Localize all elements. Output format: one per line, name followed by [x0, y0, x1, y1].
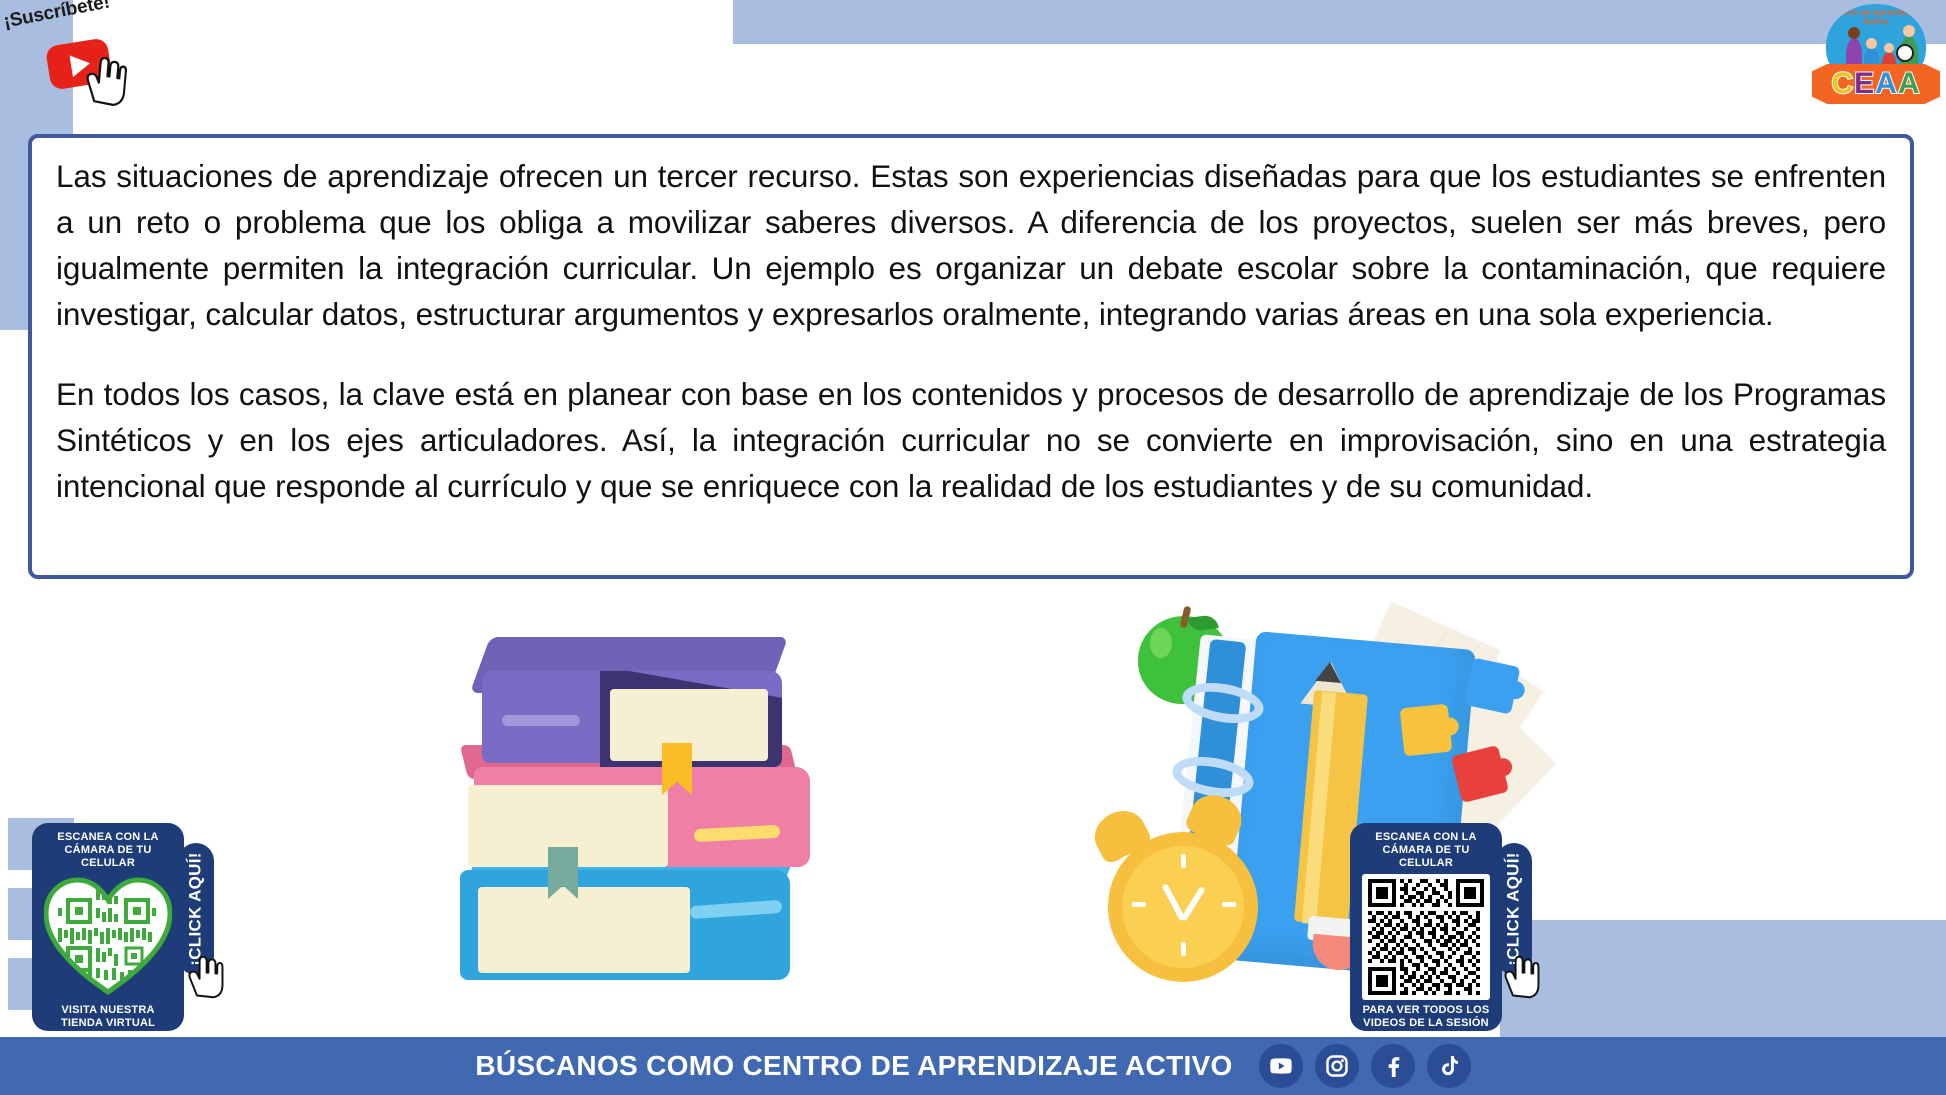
qr-right-caption-bottom: PARA VER TODOS LOS VIDEOS DE LA SESIÓN	[1360, 1004, 1492, 1030]
clock-tick-6	[1181, 942, 1186, 956]
facebook-icon[interactable]	[1371, 1044, 1415, 1088]
heart-qr-svg	[44, 874, 172, 996]
logo-ribbon: CEAA	[1812, 64, 1940, 104]
logo-letter-c: C	[1831, 67, 1854, 100]
logo-letter-a2: A	[1898, 67, 1921, 100]
qr-card-videos[interactable]: ESCANEA CON LA CÁMARA DE TU CELULAR	[1350, 823, 1502, 1031]
puzzle-piece-blue	[1464, 658, 1521, 715]
youtube-play-icon[interactable]	[45, 37, 113, 90]
decor-band-right-lower	[1500, 920, 1946, 1040]
subscribe-badge[interactable]: ¡Suscríbete!	[4, 6, 134, 98]
book-purple-spine-line	[502, 715, 580, 726]
puzzle-piece-yellow	[1400, 704, 1453, 757]
paragraph-1: Las situaciones de aprendizaje ofrecen u…	[56, 154, 1886, 338]
subscribe-label: ¡Suscríbete!	[2, 0, 112, 34]
heart-qr-code[interactable]	[44, 874, 172, 1000]
ceaa-logo: Centro de Aprendizaje Activo CEAA	[1812, 2, 1940, 106]
apple-highlight	[1150, 628, 1172, 658]
logo-wordmark: CEAA	[1831, 69, 1920, 99]
tiktok-icon[interactable]	[1427, 1044, 1471, 1088]
youtube-icon[interactable]	[1259, 1044, 1303, 1088]
qr-right-caption-top: ESCANEA CON LA CÁMARA DE TU CELULAR	[1360, 831, 1492, 870]
footer-title: BÚSCANOS COMO CENTRO DE APRENDIZAJE ACTI…	[475, 1050, 1232, 1082]
stack-of-books-illustration	[450, 615, 830, 1015]
book-blue-pages	[478, 887, 690, 973]
qr-left-caption-bottom: VISITA NUESTRA TIENDA VIRTUAL	[42, 1004, 174, 1030]
clock-tick-9	[1132, 902, 1146, 907]
content-panel: Las situaciones de aprendizaje ofrecen u…	[28, 134, 1914, 579]
click-here-label-left: ¡CLICK AQUÍ!	[186, 852, 206, 965]
clock-tick-3	[1222, 902, 1236, 907]
instagram-icon[interactable]	[1315, 1044, 1359, 1088]
click-here-tab-left[interactable]: ¡CLICK AQUÍ!	[178, 843, 214, 975]
soccer-ball-icon	[1896, 44, 1914, 62]
paragraph-2: En todos los casos, la clave está en pla…	[56, 372, 1886, 510]
footer-bar: BÚSCANOS COMO CENTRO DE APRENDIZAJE ACTI…	[0, 1037, 1946, 1095]
click-here-label-right: ¡CLICK AQUÍ!	[1504, 852, 1524, 965]
qr-card-store[interactable]: ESCANEA CON LA CÁMARA DE TU CELULAR	[32, 823, 184, 1031]
square-qr-svg	[1367, 879, 1485, 995]
qr-left-caption-top: ESCANEA CON LA CÁMARA DE TU CELULAR	[42, 831, 174, 870]
logo-letter-e: E	[1854, 67, 1875, 100]
click-here-tab-right[interactable]: ¡CLICK AQUÍ!	[1496, 843, 1532, 975]
clock-tick-12	[1181, 854, 1186, 868]
logo-letter-a1: A	[1875, 67, 1898, 100]
square-qr-code[interactable]	[1362, 874, 1490, 1000]
slide-canvas: ¡Suscríbete! Centro de Aprendizaje Activ…	[0, 0, 1946, 1095]
decor-band-top-right	[733, 0, 1946, 44]
social-icons	[1259, 1044, 1471, 1088]
